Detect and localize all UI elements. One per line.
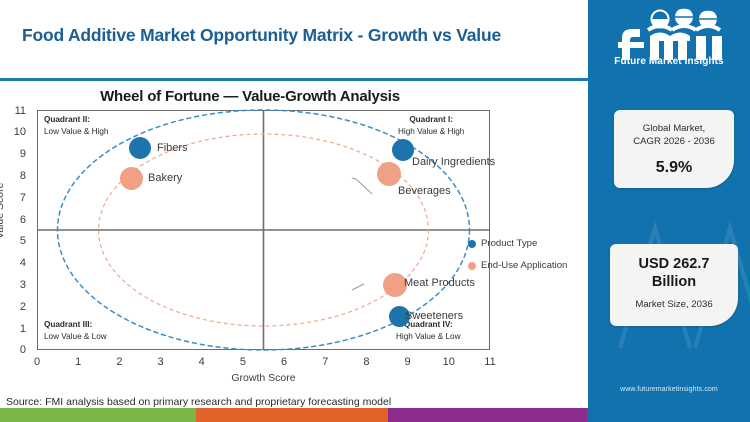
data-point-dairy-ingredients[interactable] (392, 139, 414, 161)
cagr-card: Global Market, CAGR 2026 - 2036 5.9% (614, 110, 734, 188)
y-axis-label: Value Score (0, 183, 6, 239)
page-title: Food Additive Market Opportunity Matrix … (22, 25, 501, 46)
bar-segment-green (0, 408, 196, 422)
data-point-beverages[interactable] (377, 162, 401, 186)
y-tick-6: 6 (10, 214, 26, 226)
data-point-fibers[interactable] (129, 137, 151, 159)
legend-label-product-type[interactable]: Product Type (481, 238, 537, 249)
data-label-bakery: Bakery (148, 172, 182, 184)
y-tick-0: 0 (10, 344, 26, 356)
data-label-meat-products: Meat Products (404, 277, 475, 289)
brand-sidebar: Future Market Insights Global Market, CA… (588, 0, 750, 408)
cagr-card-line2: CAGR 2026 - 2036 (633, 136, 715, 147)
quadrant-label-I: Quadrant I: High Value & High (398, 114, 464, 138)
x-tick-9: 9 (398, 356, 418, 368)
market-size-value-line1: USD 262.7 (639, 256, 710, 272)
x-tick-7: 7 (315, 356, 335, 368)
y-tick-10: 10 (10, 126, 26, 138)
quadrant-II-title: Quadrant II: (44, 115, 90, 124)
quadrant-label-II: Quadrant II: Low Value & High (44, 114, 108, 138)
market-size-card: USD 262.7 Billion Market Size, 2036 (610, 244, 738, 326)
x-tick-5: 5 (233, 356, 253, 368)
left-content-area: Food Additive Market Opportunity Matrix … (0, 0, 588, 408)
quadrant-I-title: Quadrant I: (409, 115, 453, 124)
y-tick-5: 5 (10, 235, 26, 247)
website-url[interactable]: www.futuremarketinsights.com (588, 386, 750, 393)
y-tick-1: 1 (10, 323, 26, 335)
data-point-bakery[interactable] (120, 167, 143, 190)
quadrant-label-III: Quadrant III: Low Value & Low (44, 319, 107, 343)
y-tick-7: 7 (10, 192, 26, 204)
quadrant-IV-subtitle: High Value & Low (396, 332, 460, 341)
legend-label-end-use-application[interactable]: End-Use Application (481, 260, 567, 271)
x-tick-6: 6 (274, 356, 294, 368)
x-tick-4: 4 (192, 356, 212, 368)
source-note: Source: FMI analysis based on primary re… (6, 396, 391, 408)
data-label-fibers: Fibers (157, 142, 188, 154)
cagr-card-value: 5.9% (614, 159, 734, 177)
x-tick-3: 3 (151, 356, 171, 368)
x-tick-1: 1 (68, 356, 88, 368)
data-label-dairy-ingredients: Dairy Ingredients (412, 156, 495, 168)
market-size-value-line2: Billion (652, 274, 696, 290)
quadrant-III-subtitle: Low Value & Low (44, 332, 107, 341)
y-tick-8: 8 (10, 170, 26, 182)
bar-segment-purple (388, 408, 587, 422)
market-size-caption: Market Size, 2036 (610, 298, 738, 311)
opportunity-matrix-chart: Wheel of Fortune — Value-Growth Analysis… (0, 84, 588, 389)
x-tick-11: 11 (480, 356, 500, 368)
quadrant-III-title: Quadrant III: (44, 320, 92, 329)
bottom-color-bar (0, 408, 750, 422)
x-tick-2: 2 (109, 356, 129, 368)
legend-dot-end-use-application (468, 262, 476, 270)
infographic-page: Food Additive Market Opportunity Matrix … (0, 0, 750, 422)
y-tick-2: 2 (10, 301, 26, 313)
quadrant-II-subtitle: Low Value & High (44, 127, 108, 136)
x-tick-8: 8 (356, 356, 376, 368)
data-label-beverages: Beverages (398, 185, 451, 197)
quadrant-I-subtitle: High Value & High (398, 127, 464, 136)
x-tick-10: 10 (439, 356, 459, 368)
y-tick-9: 9 (10, 148, 26, 160)
bar-segment-orange (196, 408, 388, 422)
x-axis-label: Growth Score (37, 372, 490, 384)
bar-segment-blue (587, 408, 750, 422)
x-tick-0: 0 (27, 356, 47, 368)
y-tick-3: 3 (10, 279, 26, 291)
cagr-card-line1: Global Market, (643, 123, 705, 134)
header-divider (0, 78, 588, 81)
y-tick-11: 11 (10, 105, 26, 117)
data-label-sweeteners: Sweeteners (405, 310, 463, 322)
fmi-logo-tagline: Future Market Insights (588, 56, 750, 67)
y-tick-4: 4 (10, 257, 26, 269)
legend-dot-product-type (468, 240, 476, 248)
